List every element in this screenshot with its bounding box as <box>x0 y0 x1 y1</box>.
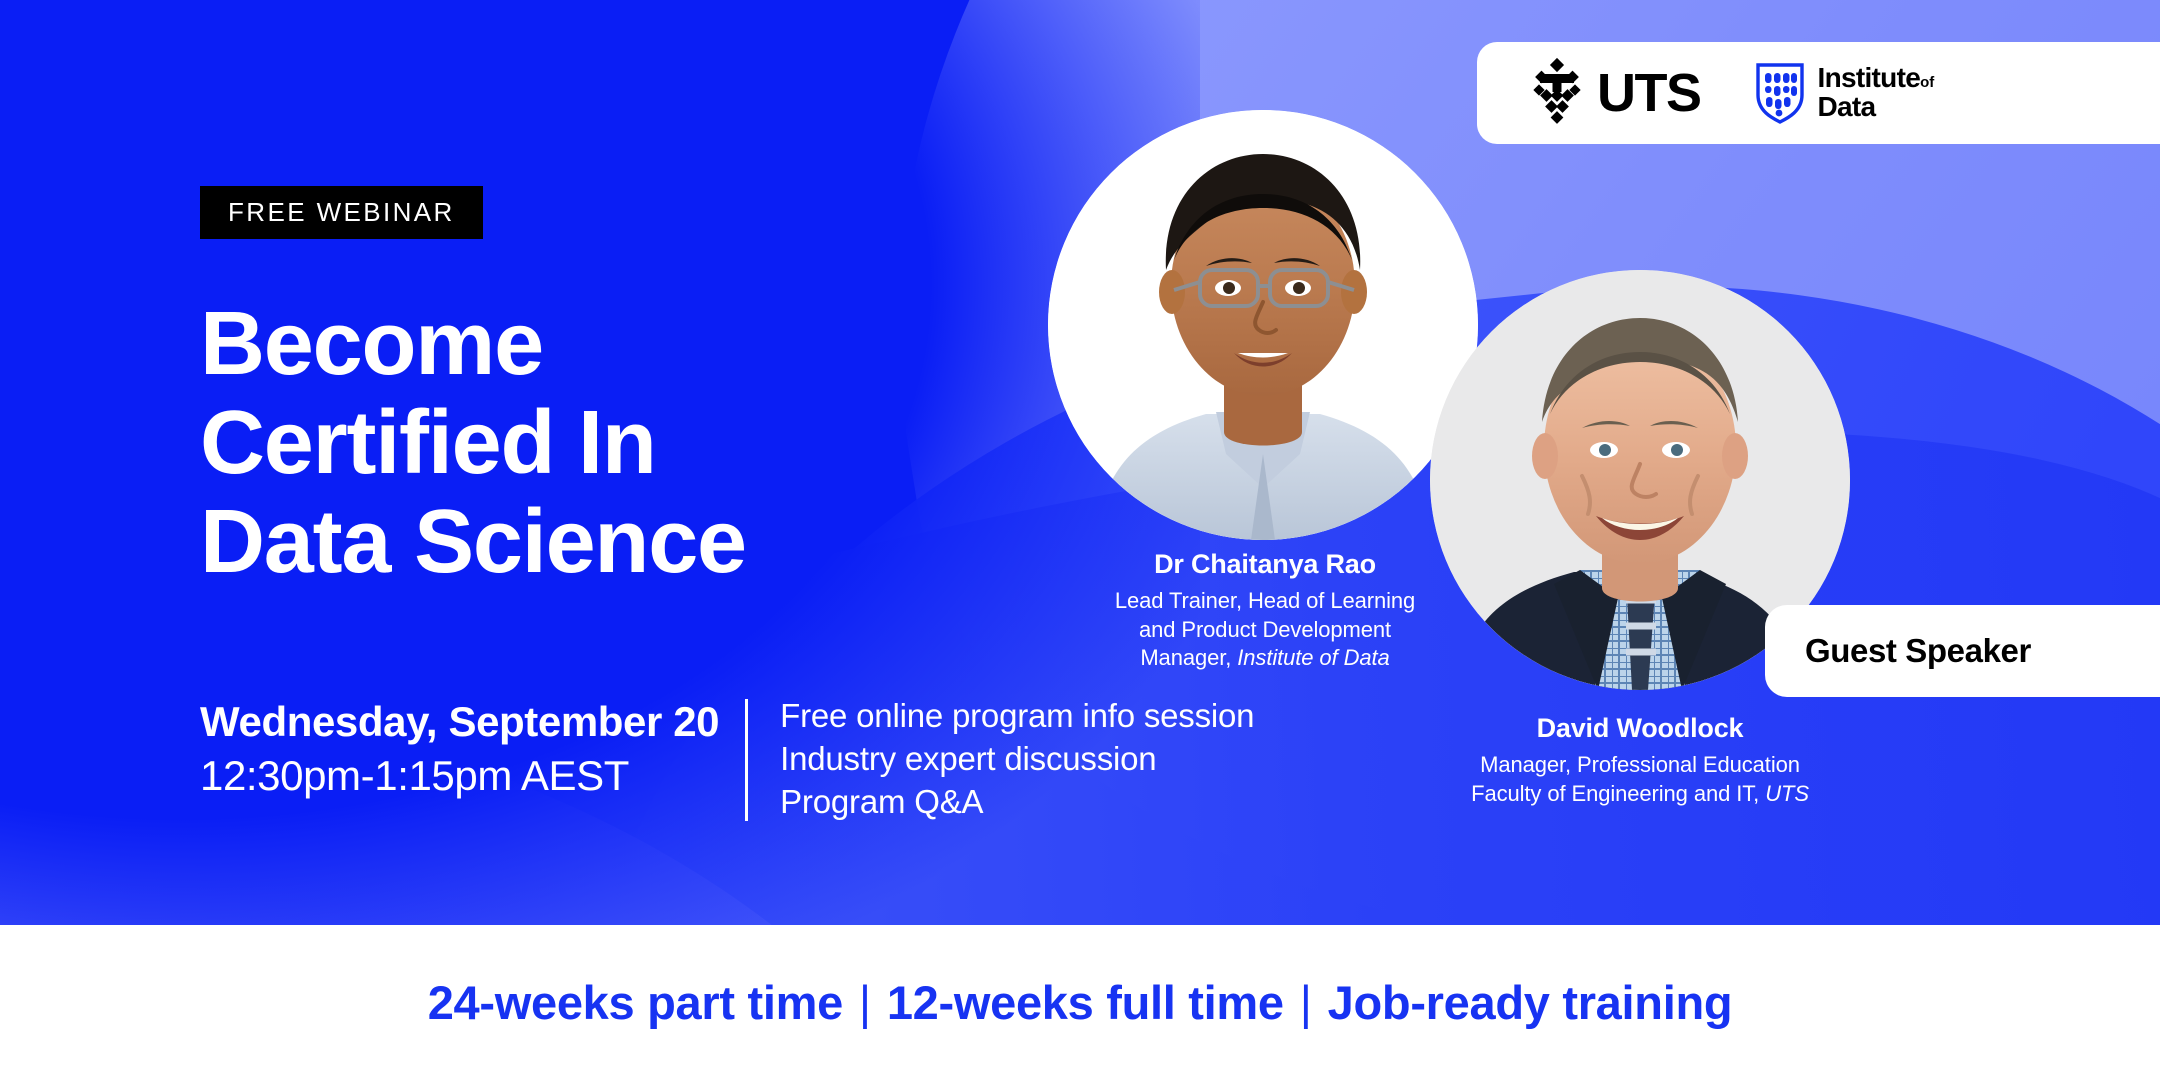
iod-wordmark-line-1: Instituteof <box>1818 64 1935 93</box>
format-item-job-ready: Job-ready training <box>1328 975 1733 1030</box>
institute-of-data-logo: Instituteof Data <box>1755 62 1935 124</box>
iod-wordmark-line-2: Data <box>1818 93 1935 122</box>
format-item-full-time: 12-weeks full time <box>887 975 1284 1030</box>
speaker-role-prefix: Manager, <box>1140 645 1237 670</box>
speaker-role-line: Lead Trainer, Head of Learning <box>1050 587 1480 615</box>
page-title: Become Certified In Data Science <box>200 295 746 592</box>
uts-diamond-lattice-icon <box>1529 57 1585 129</box>
iod-institute-text: Institute <box>1818 62 1921 93</box>
uts-wordmark: UTS <box>1597 66 1701 120</box>
headline-line-1: Become <box>200 295 746 394</box>
speaker-org: Institute of Data <box>1237 645 1389 670</box>
guest-speaker-badge: Guest Speaker <box>1765 605 2160 697</box>
speaker-name: David Woodlock <box>1420 712 1860 744</box>
speaker-role-line: and Product Development <box>1050 616 1480 644</box>
agenda-item: Program Q&A <box>780 781 1254 824</box>
free-webinar-badge: FREE WEBINAR <box>200 186 483 239</box>
speaker-name: Dr Chaitanya Rao <box>1050 548 1480 580</box>
bottom-info-bar: 24-weeks part time | 12-weeks full time … <box>0 925 2160 1080</box>
event-time: 12:30pm-1:15pm AEST <box>200 749 719 803</box>
agenda-item: Free online program info session <box>780 695 1254 738</box>
speaker-role-line: Faculty of Engineering and IT, UTS <box>1420 780 1860 808</box>
institute-of-data-wordmark: Instituteof Data <box>1818 64 1935 121</box>
shield-dots-icon <box>1755 62 1805 124</box>
format-item-part-time: 24-weeks part time <box>428 975 843 1030</box>
free-webinar-badge-label: FREE WEBINAR <box>228 199 455 225</box>
speaker-caption-david-woodlock: David Woodlock Manager, Professional Edu… <box>1420 712 1860 808</box>
format-separator: | <box>859 975 871 1030</box>
banner-artwork-stage: FREE WEBINAR Become Certified In Data Sc… <box>0 0 2160 925</box>
program-format-summary: 24-weeks part time | 12-weeks full time … <box>428 975 1733 1030</box>
vertical-divider <box>745 699 748 821</box>
headline-line-3: Data Science <box>200 493 746 592</box>
event-date: Wednesday, September 20 <box>200 695 719 749</box>
format-separator: | <box>1300 975 1312 1030</box>
speaker-photo-chaitanya-rao <box>1048 110 1478 540</box>
iod-of-text: of <box>1920 74 1934 91</box>
speaker-role-line: Manager, Institute of Data <box>1050 644 1480 672</box>
uts-logo: UTS <box>1529 57 1701 129</box>
logo-bar: UTS <box>1477 42 2160 144</box>
speaker-role-line: Manager, Professional Education <box>1420 751 1860 779</box>
webinar-banner: FREE WEBINAR Become Certified In Data Sc… <box>0 0 2160 1080</box>
event-agenda-list: Free online program info session Industr… <box>780 695 1254 824</box>
speaker-caption-chaitanya-rao: Dr Chaitanya Rao Lead Trainer, Head of L… <box>1050 548 1480 672</box>
guest-speaker-badge-label: Guest Speaker <box>1805 632 2031 670</box>
headline-line-2: Certified In <box>200 394 746 493</box>
event-datetime: Wednesday, September 20 12:30pm-1:15pm A… <box>200 695 719 803</box>
agenda-item: Industry expert discussion <box>780 738 1254 781</box>
speaker-role-prefix: Faculty of Engineering and IT, <box>1471 781 1765 806</box>
event-details-row: Wednesday, September 20 12:30pm-1:15pm A… <box>200 695 1254 824</box>
speaker-org: UTS <box>1765 781 1809 806</box>
